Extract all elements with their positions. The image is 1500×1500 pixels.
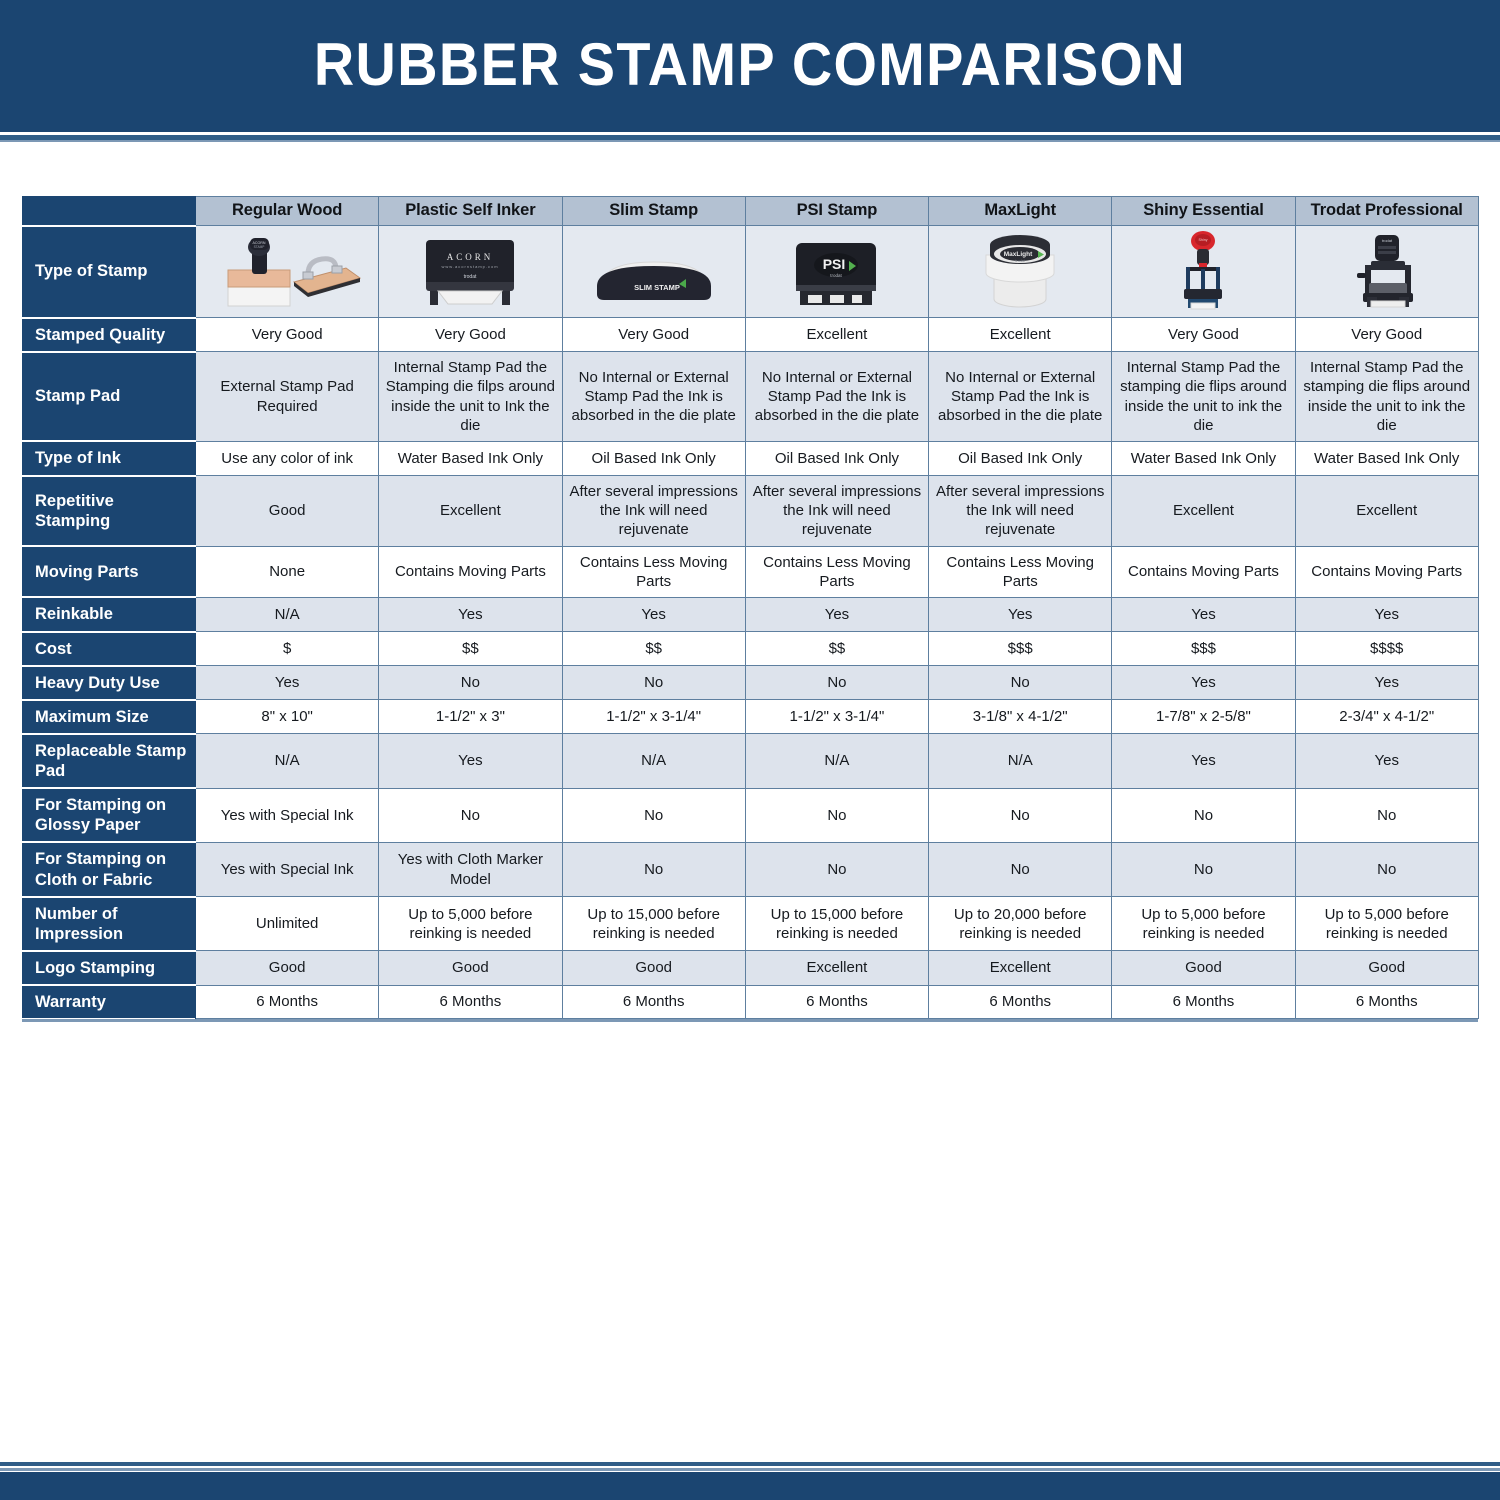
table-cell: Up to 5,000 before reinking is needed [379, 897, 562, 951]
stamp-image-cell-7: trodat [1295, 226, 1478, 318]
table-cell: 6 Months [379, 985, 562, 1018]
table-cell: 3-1/8" x 4-1/2" [929, 700, 1112, 734]
column-header-7: Trodat Professional [1295, 197, 1478, 226]
table-cell: Yes with Special Ink [196, 842, 379, 896]
stamp-image-cell-5: MaxLighttrodat [929, 226, 1112, 318]
table-row: Maximum Size8" x 10"1-1/2" x 3"1-1/2" x … [23, 700, 1479, 734]
table-cell: Excellent [929, 951, 1112, 985]
slim-stamp-icon: SLIM STAMP [579, 263, 729, 280]
table-cell: No [745, 666, 928, 700]
table-cell: Yes [379, 734, 562, 788]
stamp-image-cell-4: PSItrodat [745, 226, 928, 318]
table-cell: Use any color of ink [196, 441, 379, 475]
table-cell: Up to 5,000 before reinking is needed [1295, 897, 1478, 951]
page-title: RUBBER STAMP COMPARISON [314, 30, 1186, 99]
table-cell: No [929, 666, 1112, 700]
table-row: Stamp PadExternal Stamp Pad RequiredInte… [23, 352, 1479, 442]
table-cell: Internal Stamp Pad the stamping die flip… [1112, 352, 1295, 442]
table-cell: No [1112, 842, 1295, 896]
row-label: Replaceable Stamp Pad [23, 734, 196, 788]
table-row: Replaceable Stamp PadN/AYesN/AN/AN/AYesY… [23, 734, 1479, 788]
table-cell: Oil Based Ink Only [745, 441, 928, 475]
stamp-image-cell-3: SLIM STAMP [562, 226, 745, 318]
wood-handle-stamp-icon: ACORNSTAMP [212, 263, 362, 280]
table-cell: Very Good [379, 318, 562, 352]
table-cell: No [562, 666, 745, 700]
svg-text:STAMP: STAMP [254, 245, 265, 249]
table-cell: Contains Less Moving Parts [929, 546, 1112, 597]
table-cell: $$ [562, 632, 745, 666]
table-cell: Contains Less Moving Parts [745, 546, 928, 597]
svg-text:trodat: trodat [830, 273, 842, 278]
row-label: Cost [23, 632, 196, 666]
table-cell: No [1295, 842, 1478, 896]
table-cell: 6 Months [1295, 985, 1478, 1018]
table-cell: 6 Months [562, 985, 745, 1018]
table-cell: Water Based Ink Only [379, 441, 562, 475]
svg-text:trodat: trodat [464, 274, 477, 280]
table-cell: Good [1295, 951, 1478, 985]
table-cell: No Internal or External Stamp Pad the In… [929, 352, 1112, 442]
table-cell: Yes [929, 597, 1112, 631]
table-cell: Up to 5,000 before reinking is needed [1112, 897, 1295, 951]
table-cell: Excellent [745, 951, 928, 985]
table-cell: $$ [379, 632, 562, 666]
row-label-type-of-stamp: Type of Stamp [23, 226, 196, 318]
table-row: Cost$$$$$$$$$$$$$$$$$ [23, 632, 1479, 666]
table-cell: After several impressions the Ink will n… [745, 476, 928, 547]
table-cell: Oil Based Ink Only [562, 441, 745, 475]
table-cell: Yes [1112, 734, 1295, 788]
table-cell: After several impressions the Ink will n… [929, 476, 1112, 547]
table-cell: Excellent [929, 318, 1112, 352]
table-cell: Good [562, 951, 745, 985]
svg-text:trodat: trodat [1016, 259, 1025, 263]
table-cell: 1-1/2" x 3" [379, 700, 562, 734]
table-cell: 1-1/2" x 3-1/4" [562, 700, 745, 734]
table-row: For Stamping on Glossy PaperYes with Spe… [23, 788, 1479, 842]
table-cell: Yes [1112, 597, 1295, 631]
svg-text:PSI: PSI [823, 256, 846, 272]
table-cell: N/A [196, 734, 379, 788]
comparison-page: RUBBER STAMP COMPARISON Regular WoodPlas… [0, 0, 1500, 1500]
table-corner-cell [23, 197, 196, 226]
table-cell: $$ [745, 632, 928, 666]
table-cell: N/A [196, 597, 379, 631]
row-label: Type of Ink [23, 441, 196, 475]
table-row: Moving PartsNoneContains Moving PartsCon… [23, 546, 1479, 597]
table-cell: Good [196, 476, 379, 547]
table-cell: Very Good [196, 318, 379, 352]
row-label: Logo Stamping [23, 951, 196, 985]
table-cell: $$$ [929, 632, 1112, 666]
row-label: For Stamping on Cloth or Fabric [23, 842, 196, 896]
table-cell: Water Based Ink Only [1112, 441, 1295, 475]
table-cell: $ [196, 632, 379, 666]
table-cell: Yes with Cloth Marker Model [379, 842, 562, 896]
table-header-row: Regular WoodPlastic Self InkerSlim Stamp… [23, 197, 1479, 226]
table-cell: Good [379, 951, 562, 985]
svg-text:ACORN: ACORN [447, 252, 494, 262]
table-cell: None [196, 546, 379, 597]
column-header-2: Plastic Self Inker [379, 197, 562, 226]
table-cell: No [929, 788, 1112, 842]
table-cell: Yes [196, 666, 379, 700]
table-cell: Up to 15,000 before reinking is needed [562, 897, 745, 951]
plastic-self-inker-stamp-icon: ACORNwww.acornstamp.comtrodat [416, 263, 524, 280]
column-header-1: Regular Wood [196, 197, 379, 226]
table-cell: Up to 20,000 before reinking is needed [929, 897, 1112, 951]
psi-stamp-icon: PSItrodat [782, 263, 892, 280]
maxlight-round-stamp-icon: MaxLighttrodat [968, 263, 1072, 280]
table-cell: Yes [745, 597, 928, 631]
footer-rule-top [0, 1462, 1500, 1466]
trodat-professional-stamp-icon: trodat [1341, 263, 1433, 280]
table-cell: Unlimited [196, 897, 379, 951]
table-cell: Oil Based Ink Only [929, 441, 1112, 475]
table-cell: Yes [1112, 666, 1295, 700]
row-label: Stamp Pad [23, 352, 196, 442]
row-label: Reinkable [23, 597, 196, 631]
table-cell: Contains Moving Parts [1112, 546, 1295, 597]
table-row: Warranty6 Months6 Months6 Months6 Months… [23, 985, 1479, 1018]
table-cell: Up to 15,000 before reinking is needed [745, 897, 928, 951]
table-cell: Contains Less Moving Parts [562, 546, 745, 597]
table-row: Type of InkUse any color of inkWater Bas… [23, 441, 1479, 475]
footer-rule-mid [0, 1468, 1500, 1471]
table-cell: Very Good [1295, 318, 1478, 352]
table-cell: Excellent [379, 476, 562, 547]
table-cell: $$$$ [1295, 632, 1478, 666]
table-cell: No Internal or External Stamp Pad the In… [745, 352, 928, 442]
row-label: Stamped Quality [23, 318, 196, 352]
table-cell: Excellent [1112, 476, 1295, 547]
svg-text:MaxLight: MaxLight [1004, 251, 1033, 258]
svg-text:SLIM STAMP: SLIM STAMP [634, 283, 680, 292]
table-cell: Internal Stamp Pad the Stamping die filp… [379, 352, 562, 442]
svg-text:Shiny: Shiny [1199, 238, 1208, 242]
table-cell: Yes [562, 597, 745, 631]
table-cell: N/A [745, 734, 928, 788]
table-cell: Water Based Ink Only [1295, 441, 1478, 475]
table-cell: Good [196, 951, 379, 985]
table-cell: No [562, 842, 745, 896]
table-cell: Excellent [745, 318, 928, 352]
table-cell: Good [1112, 951, 1295, 985]
table-row: For Stamping on Cloth or FabricYes with … [23, 842, 1479, 896]
row-label: For Stamping on Glossy Paper [23, 788, 196, 842]
table-cell: No [562, 788, 745, 842]
table-cell: No [379, 666, 562, 700]
table-cell: Yes [1295, 666, 1478, 700]
table-cell: 2-3/4" x 4-1/2" [1295, 700, 1478, 734]
comparison-table: Regular WoodPlastic Self InkerSlim Stamp… [22, 196, 1479, 1019]
table-cell: After several impressions the Ink will n… [562, 476, 745, 547]
table-cell: 6 Months [196, 985, 379, 1018]
stamp-image-cell-6: Shiny [1112, 226, 1295, 318]
svg-text:trodat: trodat [1382, 238, 1393, 243]
table-cell: $$$ [1112, 632, 1295, 666]
table-row: Stamped QualityVery GoodVery GoodVery Go… [23, 318, 1479, 352]
stamp-image-cell-1: ACORNSTAMP [196, 226, 379, 318]
stamp-image-cell-2: ACORNwww.acornstamp.comtrodat [379, 226, 562, 318]
table-cell: Yes [379, 597, 562, 631]
table-cell: 6 Months [745, 985, 928, 1018]
table-cell: Yes [1295, 597, 1478, 631]
table-cell: Contains Moving Parts [379, 546, 562, 597]
column-header-4: PSI Stamp [745, 197, 928, 226]
table-bottom-edge [22, 1019, 1478, 1022]
table-row: Repetitive StampingGoodExcellentAfter se… [23, 476, 1479, 547]
banner-rule-top [0, 128, 1500, 132]
row-label: Heavy Duty Use [23, 666, 196, 700]
row-label: Warranty [23, 985, 196, 1018]
footer-bar [0, 1472, 1500, 1500]
table-cell: Excellent [1295, 476, 1478, 547]
table-row-type-of-stamp: Type of StampACORNSTAMPACORNwww.acornsta… [23, 226, 1479, 318]
table-cell: No [379, 788, 562, 842]
shiny-essential-stamp-icon: Shiny [1168, 263, 1238, 280]
table-cell: Very Good [562, 318, 745, 352]
row-label: Number of Impression [23, 897, 196, 951]
table-cell: Very Good [1112, 318, 1295, 352]
table-cell: Yes [1295, 734, 1478, 788]
table-cell: No Internal or External Stamp Pad the In… [562, 352, 745, 442]
svg-text:www.acornstamp.com: www.acornstamp.com [442, 264, 499, 269]
table-row: Heavy Duty UseYesNoNoNoNoYesYes [23, 666, 1479, 700]
table-cell: 8" x 10" [196, 700, 379, 734]
table-cell: 6 Months [929, 985, 1112, 1018]
table-cell: Internal Stamp Pad the stamping die flip… [1295, 352, 1478, 442]
table-cell: 1-7/8" x 2-5/8" [1112, 700, 1295, 734]
table-cell: Contains Moving Parts [1295, 546, 1478, 597]
table-cell: 1-1/2" x 3-1/4" [745, 700, 928, 734]
title-banner: RUBBER STAMP COMPARISON [0, 0, 1500, 128]
row-label: Maximum Size [23, 700, 196, 734]
table-cell: No [1295, 788, 1478, 842]
column-header-3: Slim Stamp [562, 197, 745, 226]
row-label: Moving Parts [23, 546, 196, 597]
table-cell: 6 Months [1112, 985, 1295, 1018]
table-cell: No [929, 842, 1112, 896]
table-row: ReinkableN/AYesYesYesYesYesYes [23, 597, 1479, 631]
table-row: Number of ImpressionUnlimitedUp to 5,000… [23, 897, 1479, 951]
table-cell: Yes with Special Ink [196, 788, 379, 842]
column-header-5: MaxLight [929, 197, 1112, 226]
table-cell: N/A [562, 734, 745, 788]
table-cell: N/A [929, 734, 1112, 788]
table-cell: No [745, 842, 928, 896]
table-cell: No [745, 788, 928, 842]
column-header-6: Shiny Essential [1112, 197, 1295, 226]
banner-rule-bottom [0, 140, 1500, 142]
comparison-table-wrapper: Regular WoodPlastic Self InkerSlim Stamp… [22, 196, 1478, 1019]
table-cell: External Stamp Pad Required [196, 352, 379, 442]
table-cell: No [1112, 788, 1295, 842]
table-row: Logo StampingGoodGoodGoodExcellentExcell… [23, 951, 1479, 985]
row-label: Repetitive Stamping [23, 476, 196, 547]
